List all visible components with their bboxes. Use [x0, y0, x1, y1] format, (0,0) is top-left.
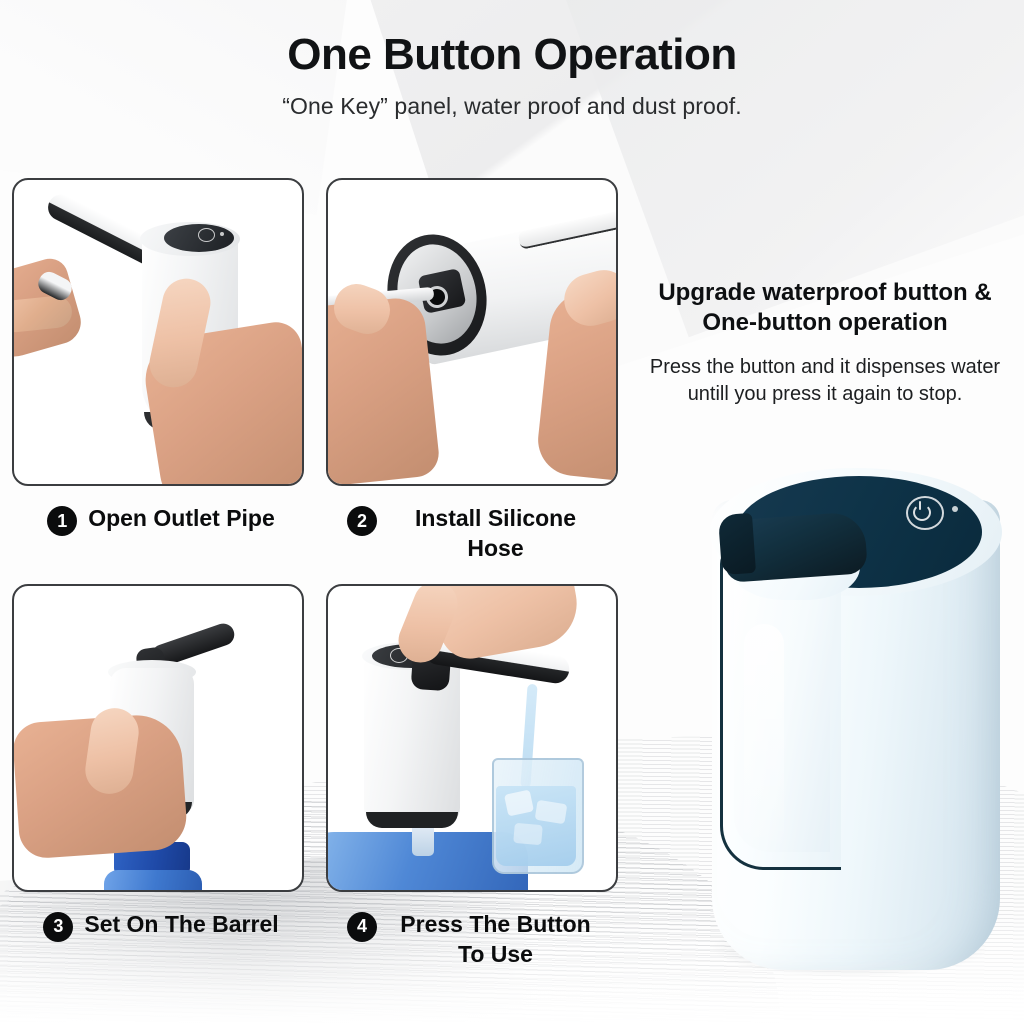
- step-2-caption: 2 Install Silicone Hose: [326, 486, 624, 564]
- step-1-label: Open Outlet Pipe: [88, 504, 275, 534]
- step-3-badge: 3: [43, 912, 73, 942]
- power-icon: [198, 228, 215, 242]
- step-1-caption: 1 Open Outlet Pipe: [12, 486, 310, 536]
- page-title: One Button Operation: [0, 0, 1024, 80]
- step-1-badge: 1: [47, 506, 77, 536]
- step-1: 1 Open Outlet Pipe: [12, 178, 310, 564]
- hero-body-highlight: [744, 624, 784, 854]
- step-4: 4 Press The Button To Use: [326, 584, 624, 970]
- step-3-label: Set On The Barrel: [84, 910, 278, 940]
- step-4-label: Press The Button To Use: [388, 910, 603, 970]
- ice-cube-shape: [535, 800, 568, 824]
- steps-row-top: 1 Open Outlet Pipe: [12, 178, 624, 564]
- step-2-badge: 2: [347, 506, 377, 536]
- led-indicator-icon: [952, 506, 958, 512]
- hero-product-image: [690, 448, 1020, 993]
- step-3-caption: 3 Set On The Barrel: [12, 892, 310, 942]
- feature-heading: Upgrade waterproof button & One-button o…: [636, 278, 1014, 338]
- feature-heading-line-2: One-button operation: [702, 309, 947, 336]
- ice-cube-shape: [513, 823, 543, 845]
- dispenser-base-shape: [366, 812, 458, 828]
- header: One Button Operation “One Key” panel, wa…: [0, 0, 1024, 120]
- page-subtitle: “One Key” panel, water proof and dust pr…: [0, 80, 1024, 120]
- step-2-label: Install Silicone Hose: [388, 504, 603, 564]
- step-3-photo: [12, 584, 304, 892]
- power-icon-arc: [913, 504, 931, 521]
- step-4-photo: [326, 584, 618, 892]
- steps-row-bottom: 3 Set On The Barrel: [12, 584, 624, 970]
- steps-grid: 1 Open Outlet Pipe: [12, 178, 624, 970]
- led-indicator-icon: [220, 232, 224, 236]
- feature-heading-line-1: Upgrade waterproof button &: [658, 279, 991, 306]
- step-1-photo: [12, 178, 304, 486]
- hero-spout-arm-edge: [718, 513, 756, 575]
- step-4-caption: 4 Press The Button To Use: [326, 892, 624, 970]
- water-barrel-shape: [104, 870, 202, 892]
- feature-body-text: Press the button and it dispenses water …: [636, 354, 1014, 408]
- step-2-photo: [326, 178, 618, 486]
- step-4-badge: 4: [347, 912, 377, 942]
- promo-image-canvas: One Button Operation “One Key” panel, wa…: [0, 0, 1024, 1024]
- step-2: 2 Install Silicone Hose: [326, 178, 624, 564]
- power-icon-stem: [919, 501, 921, 510]
- step-3: 3 Set On The Barrel: [12, 584, 310, 970]
- feature-copy-block: Upgrade waterproof button & One-button o…: [636, 278, 1014, 408]
